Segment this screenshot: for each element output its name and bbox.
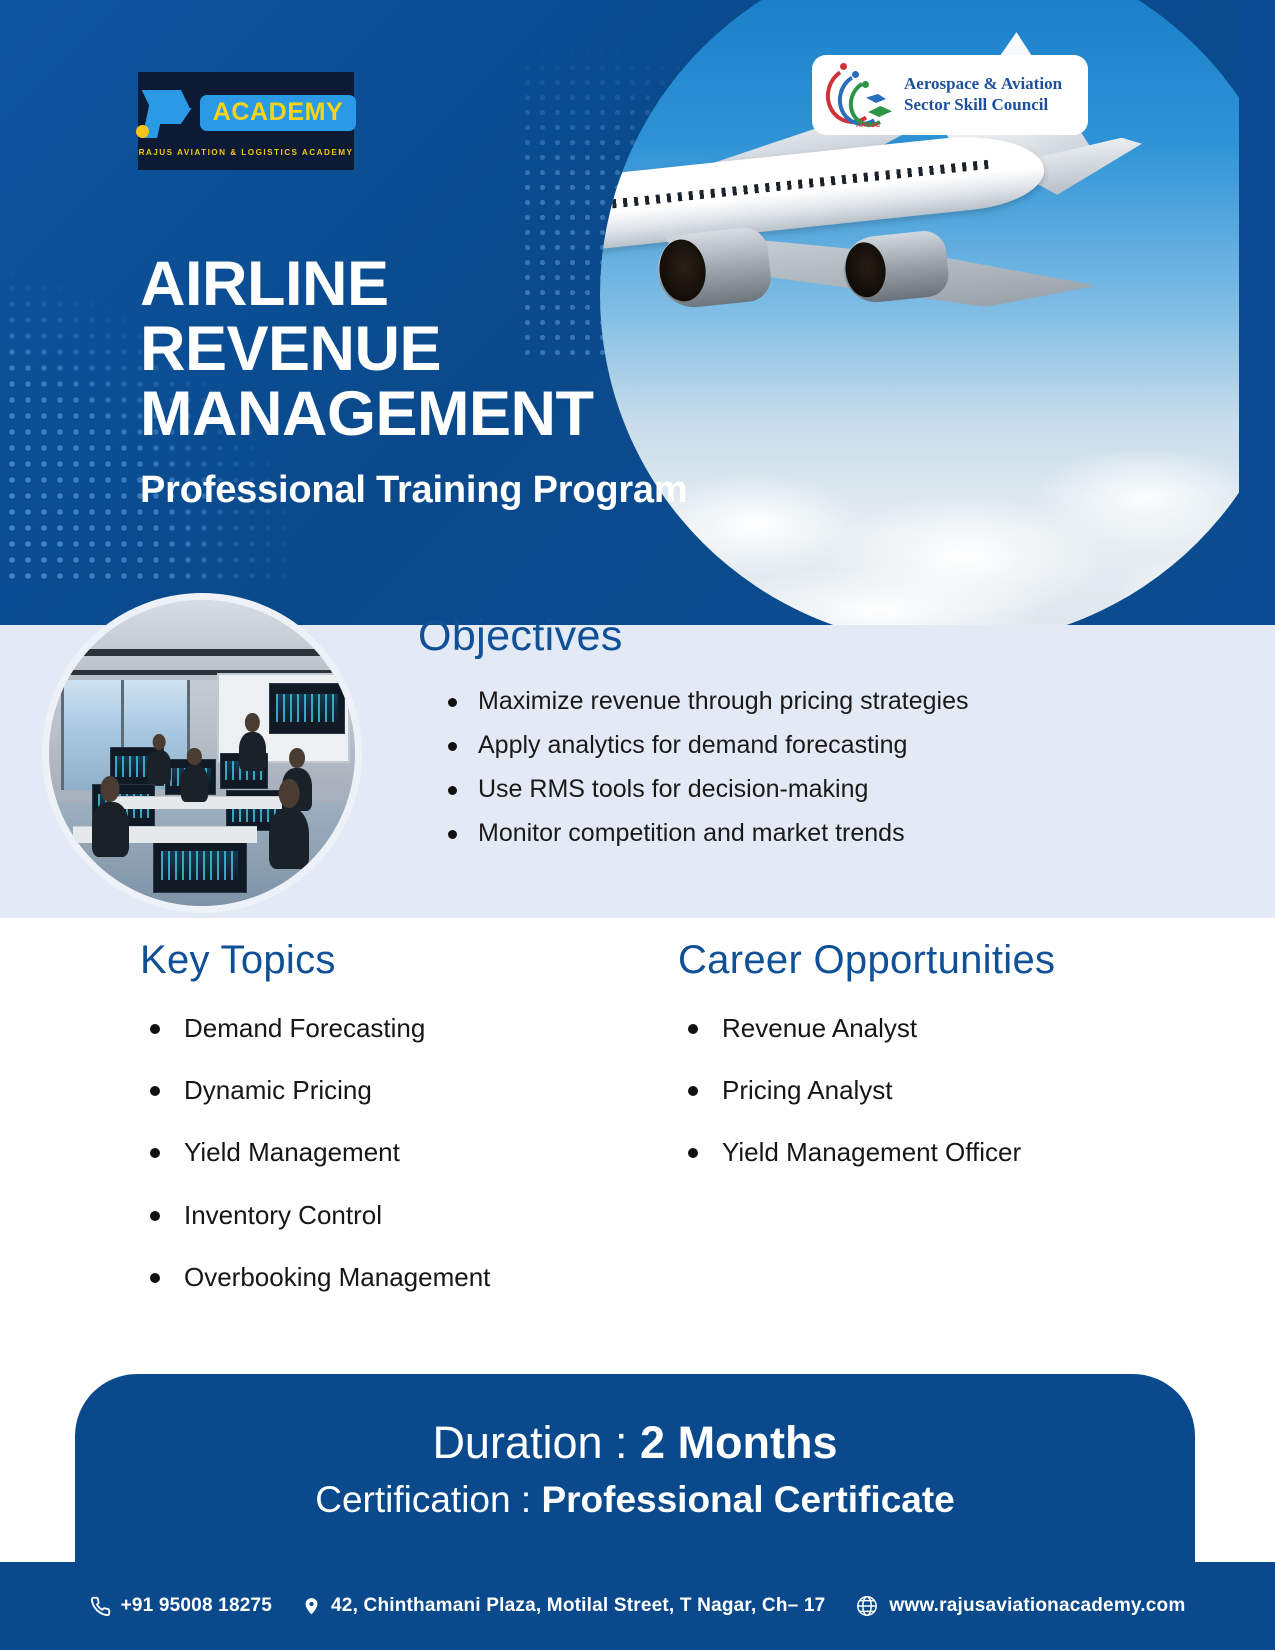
objectives-list-item: Maximize revenue through pricing strateg… bbox=[442, 679, 1178, 723]
objectives-heading: Objectives bbox=[418, 612, 1178, 661]
rajus-academy-logo: ACADEMY RAJUS AVIATION & LOGISTICS ACADE… bbox=[138, 72, 354, 170]
title-block: AIRLINE REVENUE MANAGEMENT Professional … bbox=[140, 252, 687, 512]
objectives-list-item: Use RMS tools for decision-making bbox=[442, 767, 1178, 811]
page-title-line3: MANAGEMENT bbox=[140, 382, 687, 447]
aassc-name: Aerospace & Aviation Sector Skill Counci… bbox=[904, 74, 1062, 115]
key-topics-heading: Key Topics bbox=[140, 938, 660, 983]
career-list-item: Revenue Analyst bbox=[678, 1013, 1218, 1044]
key-topics-list-item: Overbooking Management bbox=[140, 1262, 660, 1293]
aassc-abbr-label: AASSC bbox=[856, 122, 881, 129]
contact-phone[interactable]: +91 95008 18275 bbox=[90, 1595, 272, 1617]
training-room-photo bbox=[42, 593, 362, 913]
career-opportunities-list: Revenue Analyst Pricing Analyst Yield Ma… bbox=[678, 1013, 1218, 1169]
career-opportunities-section: Career Opportunities Revenue Analyst Pri… bbox=[678, 938, 1218, 1200]
header-right-strip bbox=[1239, 0, 1275, 625]
address-text: 42, Chinthamani Plaza, Motilal Street, T… bbox=[331, 1595, 825, 1617]
phone-number: +91 95008 18275 bbox=[121, 1595, 272, 1617]
duration-banner: Duration : 2 Months Certification : Prof… bbox=[75, 1374, 1195, 1564]
career-list-item: Pricing Analyst bbox=[678, 1075, 1218, 1106]
room-background bbox=[49, 600, 355, 906]
website-url: www.rajusaviationacademy.com bbox=[889, 1595, 1185, 1617]
objectives-list-item: Monitor competition and market trends bbox=[442, 811, 1178, 855]
duration-value: 2 Months bbox=[640, 1417, 838, 1468]
r-monogram-icon bbox=[136, 88, 194, 138]
contact-website[interactable]: www.rajusaviationacademy.com bbox=[855, 1594, 1185, 1618]
globe-icon bbox=[855, 1594, 879, 1618]
objectives-list-item: Apply analytics for demand forecasting bbox=[442, 723, 1178, 767]
certification-value: Professional Certificate bbox=[541, 1479, 954, 1520]
duration-line: Duration : 2 Months bbox=[432, 1417, 837, 1469]
career-list-item: Yield Management Officer bbox=[678, 1137, 1218, 1168]
header-section: ACADEMY RAJUS AVIATION & LOGISTICS ACADE… bbox=[0, 0, 1275, 625]
aassc-name-line1: Aerospace & Aviation bbox=[904, 74, 1062, 95]
certification-line: Certification : Professional Certificate bbox=[315, 1479, 955, 1521]
objectives-list: Maximize revenue through pricing strateg… bbox=[418, 679, 1178, 855]
key-topics-list-item: Yield Management bbox=[140, 1137, 660, 1168]
key-topics-list-item: Inventory Control bbox=[140, 1200, 660, 1231]
aassc-name-line2: Sector Skill Council bbox=[904, 95, 1062, 116]
page-title-line1: AIRLINE bbox=[140, 252, 687, 317]
key-topics-list: Demand Forecasting Dynamic Pricing Yield… bbox=[140, 1013, 660, 1293]
contact-address: 42, Chinthamani Plaza, Motilal Street, T… bbox=[302, 1595, 825, 1617]
duration-label: Duration : bbox=[432, 1417, 640, 1468]
location-pin-icon bbox=[302, 1595, 321, 1617]
engine-right bbox=[840, 229, 950, 306]
objectives-section: Objectives Maximize revenue through pric… bbox=[418, 612, 1178, 855]
aassc-logo: AASSC Aerospace & Aviation Sector Skill … bbox=[812, 55, 1088, 135]
academy-tagline: RAJUS AVIATION & LOGISTICS ACADEMY bbox=[139, 148, 354, 157]
key-topics-list-item: Dynamic Pricing bbox=[140, 1075, 660, 1106]
phone-icon bbox=[90, 1596, 111, 1617]
aassc-swoosh-icon: AASSC bbox=[822, 62, 900, 128]
career-opportunities-heading: Career Opportunities bbox=[678, 938, 1218, 983]
certification-label: Certification : bbox=[315, 1479, 541, 1520]
academy-badge-label: ACADEMY bbox=[200, 95, 357, 131]
poster-root: ACADEMY RAJUS AVIATION & LOGISTICS ACADE… bbox=[0, 0, 1275, 1650]
contact-footer: +91 95008 18275 42, Chinthamani Plaza, M… bbox=[0, 1562, 1275, 1650]
page-title-line2: REVENUE bbox=[140, 317, 687, 382]
key-topics-list-item: Demand Forecasting bbox=[140, 1013, 660, 1044]
page-subtitle: Professional Training Program bbox=[140, 469, 687, 512]
key-topics-section: Key Topics Demand Forecasting Dynamic Pr… bbox=[140, 938, 660, 1324]
